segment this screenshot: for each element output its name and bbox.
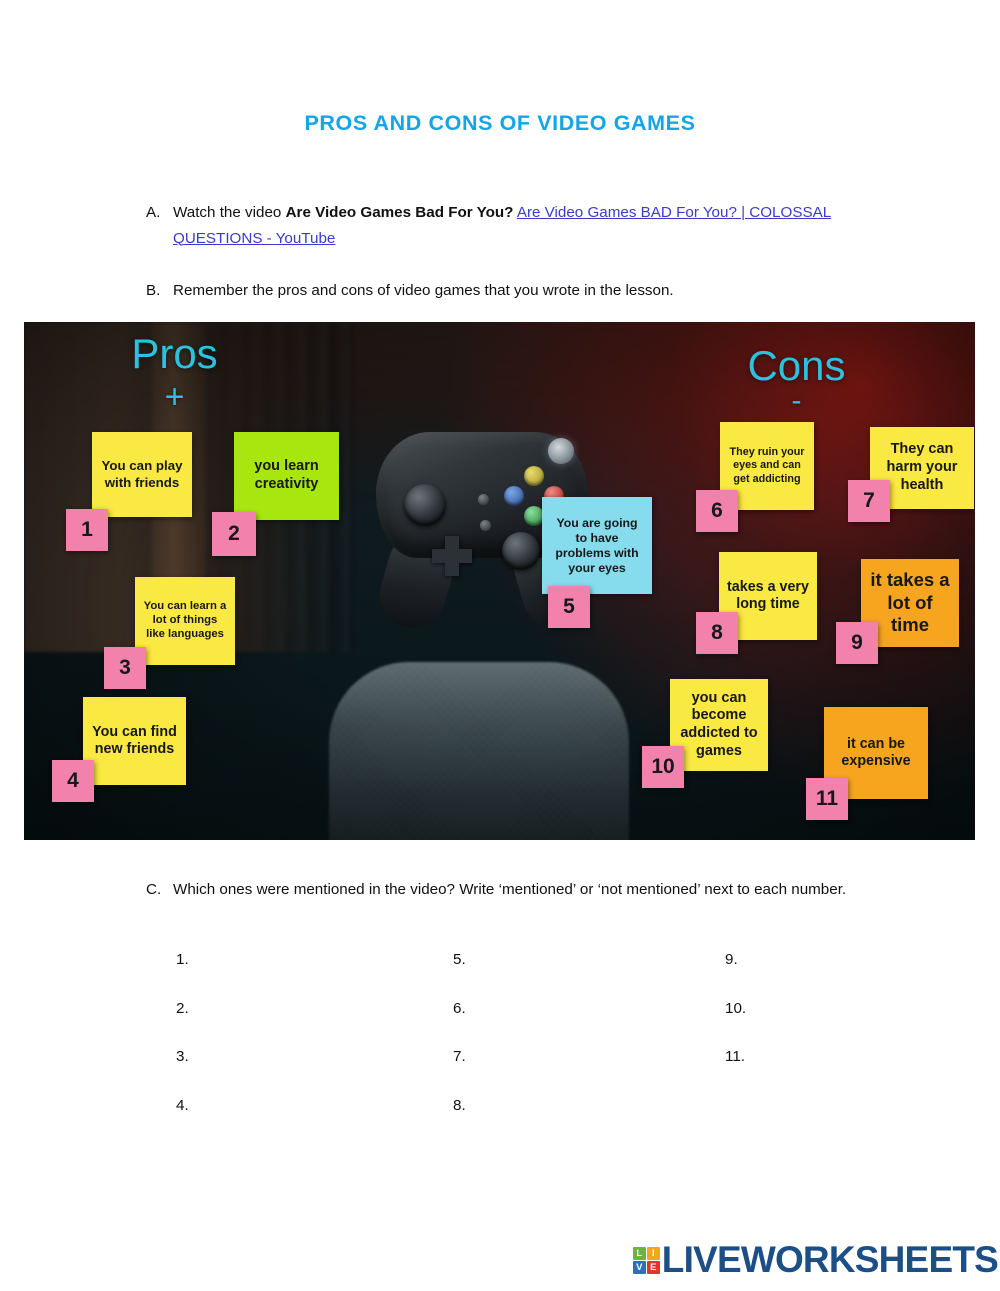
sticky-note-number: 10 [651,755,674,779]
sticky-note-text: you learn creativity [242,458,331,493]
answer-slot-8[interactable]: 8. [453,1098,725,1147]
sticky-note-2: you learn creativity [234,432,339,520]
sticky-note-number: 4 [67,769,79,793]
instruction-a-letter: A. [146,200,173,251]
sticky-note-number-tag-6: 6 [696,490,738,532]
sticky-note-text: You can play with friends [100,458,184,490]
sticky-note-number: 9 [851,631,863,655]
sticky-note-text: You can learn a lot of things like langu… [143,600,227,641]
instruction-c-letter: C. [146,877,173,903]
sticky-note-text: it can be expensive [832,736,920,771]
sticky-note-text: you can become addicted to games [678,690,760,761]
cons-heading: Cons [714,345,879,387]
sticky-note-number: 6 [711,499,723,523]
sticky-note-number: 2 [228,522,240,546]
answer-slot-3[interactable]: 3. [176,1049,453,1098]
answer-slot-7[interactable]: 7. [453,1049,725,1098]
logo-tile-l: L [633,1247,646,1260]
instruction-b: B. Remember the pros and cons of video g… [146,278,886,304]
answer-slot-5[interactable]: 5. [453,952,725,1001]
instruction-a-body: Watch the video Are Video Games Bad For … [173,200,886,251]
sticky-note-number-tag-1: 1 [66,509,108,551]
sticky-note-text: takes a very long time [727,579,809,614]
instruction-c-text: Which ones were mentioned in the video? … [173,877,906,903]
answer-slot-6[interactable]: 6. [453,1001,725,1050]
sticky-note-number-tag-9: 9 [836,622,878,664]
instruction-b-text: Remember the pros and cons of video game… [173,278,886,304]
sticky-note-number-tag-5: 5 [548,586,590,628]
sticky-note-5: You are going to have problems with your… [542,497,652,594]
logo-tile-e: E [647,1261,660,1274]
sticky-note-1: You can play with friends [92,432,192,517]
sticky-note-number-tag-4: 4 [52,760,94,802]
sticky-note-number: 3 [119,656,131,680]
logo-tile-v: V [633,1261,646,1274]
sticky-note-number-tag-3: 3 [104,647,146,689]
sticky-note-number-tag-8: 8 [696,612,738,654]
sticky-note-number: 11 [816,787,838,811]
instruction-a-text: Watch the video [173,204,286,221]
sticky-note-4: You can find new friends [83,697,186,785]
sticky-note-number-tag-2: 2 [212,512,256,556]
answer-slot-2[interactable]: 2. [176,1001,453,1050]
answer-slot-9[interactable]: 9. [725,952,836,1001]
instruction-b-letter: B. [146,278,173,304]
liveworksheets-logo-mark-icon: L I V E [633,1247,660,1274]
answer-slot-empty [725,1098,836,1147]
logo-tile-i: I [647,1247,660,1260]
answer-slot-10[interactable]: 10. [725,1001,836,1050]
sticky-note-text: it takes a lot of time [869,569,951,637]
sticky-note-number: 5 [563,595,575,619]
page-title: PROS AND CONS OF VIDEO GAMES [0,111,1000,136]
sticky-note-number: 1 [81,518,93,542]
sticky-note-number-tag-11: 11 [806,778,848,820]
instruction-c: C. Which ones were mentioned in the vide… [146,877,906,903]
sticky-note-text: You are going to have problems with your… [550,516,644,576]
sticky-note-number: 8 [711,621,723,645]
answer-slot-1[interactable]: 1. [176,952,453,1001]
answer-slot-4[interactable]: 4. [176,1098,453,1147]
liveworksheets-logo: L I V E LIVEWORKSHEETS [633,1239,998,1281]
answer-number-grid: 1.5.9.2.6.10.3.7.11.4.8. [176,952,836,1146]
sticky-note-3: You can learn a lot of things like langu… [135,577,235,665]
pros-plus-sign: + [97,378,252,417]
pros-heading: Pros [97,333,252,375]
sticky-note-number-tag-10: 10 [642,746,684,788]
sticky-note-10: you can become addicted to games [670,679,768,771]
cons-minus-sign: - [714,384,879,418]
sticky-note-text: They can harm your health [878,441,966,494]
answer-slot-11[interactable]: 11. [725,1049,836,1098]
sticky-note-number-tag-7: 7 [848,480,890,522]
instruction-a-video-title: Are Video Games Bad For You? [286,204,514,221]
liveworksheets-logo-text: LIVEWORKSHEETS [662,1239,998,1281]
sticky-note-text: They ruin your eyes and can get addictin… [728,446,806,486]
pros-cons-poster-image: Pros + Cons - You can play with friends1… [24,322,975,840]
sticky-note-text: You can find new friends [91,724,178,759]
instruction-a: A. Watch the video Are Video Games Bad F… [146,200,886,251]
sticky-note-number: 7 [863,489,875,513]
